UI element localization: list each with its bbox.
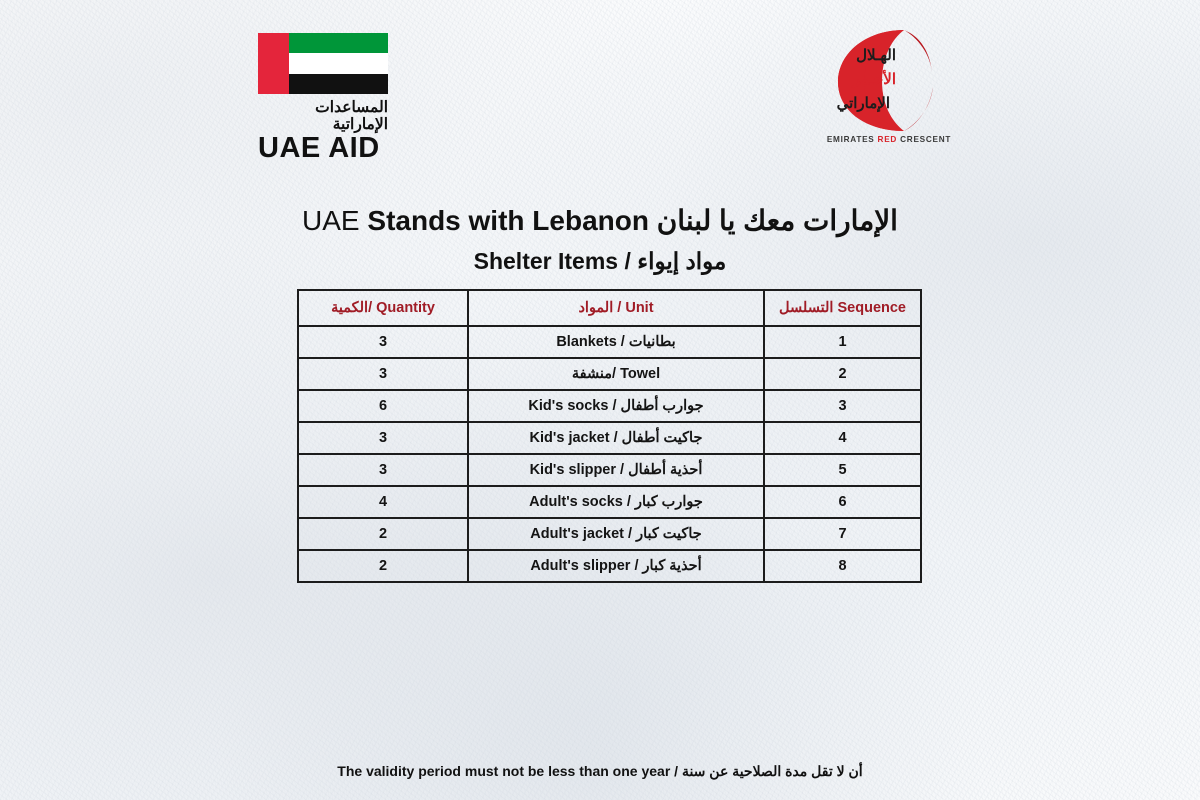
- emirates-red-crescent-logo: الهـلال الأحـمر الإماراتي EMIRATES RED C…: [826, 26, 952, 154]
- cell-quantity: 6: [298, 390, 468, 422]
- cell-sequence: 7: [764, 518, 921, 550]
- cell-quantity: 2: [298, 518, 468, 550]
- table-header: الكمية/ Quantity المواد / Unit التسلسل S…: [298, 290, 921, 326]
- uae-aid-english-label: UAE AID: [258, 133, 388, 163]
- svg-text:الهـلال: الهـلال: [856, 47, 896, 64]
- title-arabic: الإمارات معك يا لبنان: [657, 205, 898, 236]
- uae-aid-logo: المساعدات الإماراتية UAE AID: [258, 33, 398, 143]
- cell-quantity: 3: [298, 454, 468, 486]
- shelter-items-table: الكمية/ Quantity المواد / Unit التسلسل S…: [297, 289, 922, 583]
- cell-unit: Adult's slipper / أحذية كبار: [468, 550, 764, 582]
- cell-unit: Adult's jacket / جاكيت كبار: [468, 518, 764, 550]
- uae-aid-arabic-label: المساعدات الإماراتية: [258, 99, 388, 133]
- flag-red-band: [258, 33, 289, 94]
- cell-quantity: 3: [298, 358, 468, 390]
- crescent-icon: الهـلال الأحـمر الإماراتي: [826, 26, 952, 134]
- column-header-sequence: التسلسل Sequence: [764, 290, 921, 326]
- page-subtitle: Shelter Items / مواد إيواء: [0, 248, 1200, 275]
- table-body: 3 Blankets / بطانيات 1 3 منشفة/ Towel 2 …: [298, 326, 921, 582]
- cell-sequence: 5: [764, 454, 921, 486]
- validity-note: The validity period must not be less tha…: [0, 763, 1200, 780]
- cell-sequence: 6: [764, 486, 921, 518]
- cell-sequence: 3: [764, 390, 921, 422]
- table-row: 3 Kid's jacket / جاكيت أطفال 4: [298, 422, 921, 454]
- uae-flag-icon: [258, 33, 388, 94]
- table-row: 3 Blankets / بطانيات 1: [298, 326, 921, 358]
- cell-unit: منشفة/ Towel: [468, 358, 764, 390]
- column-header-quantity: الكمية/ Quantity: [298, 290, 468, 326]
- flag-white-stripe: [289, 53, 388, 73]
- cell-sequence: 1: [764, 326, 921, 358]
- erc-caption: EMIRATES RED CRESCENT: [826, 135, 952, 144]
- title-uae: UAE: [302, 205, 360, 236]
- cell-unit: Blankets / بطانيات: [468, 326, 764, 358]
- cell-unit: Kid's jacket / جاكيت أطفال: [468, 422, 764, 454]
- table-row: 2 Adult's slipper / أحذية كبار 8: [298, 550, 921, 582]
- cell-unit: Adult's socks / جوارب كبار: [468, 486, 764, 518]
- erc-caption-emirates: EMIRATES: [827, 135, 875, 144]
- cell-quantity: 2: [298, 550, 468, 582]
- table-row: 6 Kid's socks / جوارب أطفال 3: [298, 390, 921, 422]
- page-title: UAE Stands with Lebanon الإمارات معك يا …: [0, 203, 1200, 238]
- table-row: 3 منشفة/ Towel 2: [298, 358, 921, 390]
- cell-sequence: 4: [764, 422, 921, 454]
- erc-caption-red: RED: [878, 135, 898, 144]
- erc-caption-crescent: CRESCENT: [900, 135, 951, 144]
- table-row: 4 Adult's socks / جوارب كبار 6: [298, 486, 921, 518]
- svg-text:الإماراتي: الإماراتي: [837, 95, 890, 113]
- table-header-row: الكمية/ Quantity المواد / Unit التسلسل S…: [298, 290, 921, 326]
- title-stands-with-lebanon: Stands with Lebanon: [367, 205, 649, 236]
- column-header-unit: المواد / Unit: [468, 290, 764, 326]
- cell-quantity: 3: [298, 422, 468, 454]
- cell-sequence: 8: [764, 550, 921, 582]
- table-row: 2 Adult's jacket / جاكيت كبار 7: [298, 518, 921, 550]
- cell-unit: Kid's socks / جوارب أطفال: [468, 390, 764, 422]
- cell-quantity: 4: [298, 486, 468, 518]
- svg-text:الأحـمر: الأحـمر: [852, 69, 896, 88]
- flag-black-stripe: [289, 74, 388, 94]
- table-row: 3 Kid's slipper / أحذية أطفال 5: [298, 454, 921, 486]
- flag-green-stripe: [289, 33, 388, 53]
- cell-unit: Kid's slipper / أحذية أطفال: [468, 454, 764, 486]
- cell-quantity: 3: [298, 326, 468, 358]
- poster-canvas: المساعدات الإماراتية UAE AID الهـلال الأ…: [0, 0, 1200, 800]
- cell-sequence: 2: [764, 358, 921, 390]
